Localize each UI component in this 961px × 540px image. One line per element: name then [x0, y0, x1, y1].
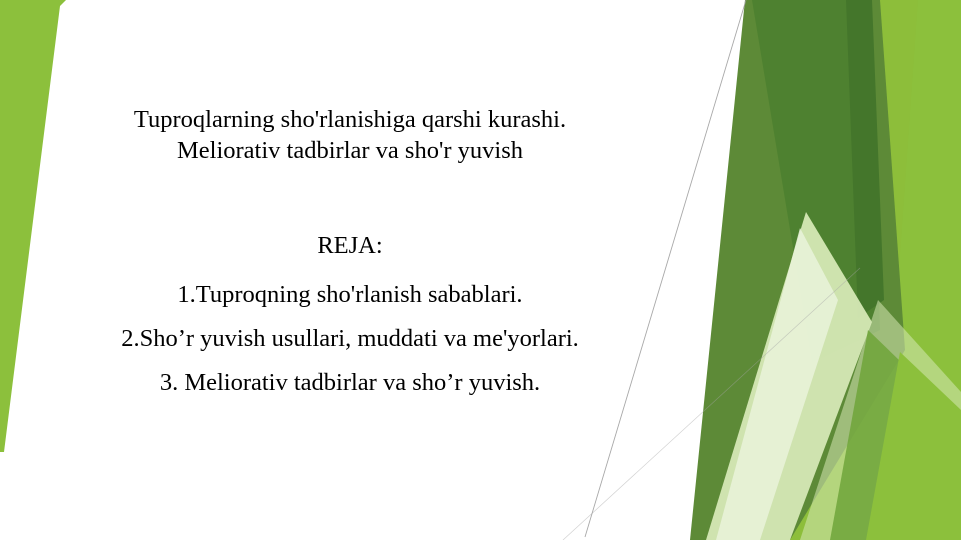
- right-edge-bright-band: [880, 0, 961, 540]
- lower-bright-green-wedge: [866, 352, 961, 540]
- pale-green-overlay-right: [800, 300, 961, 540]
- list-item: 1.Tuproqning sho'rlanish sabablari.: [20, 273, 680, 317]
- list-item: 2.Sho’r yuvish usullari, muddati va me'y…: [20, 317, 680, 361]
- plan-heading: REJA:: [40, 230, 660, 261]
- plan-list: 1.Tuproqning sho'rlanish sabablari. 2.Sh…: [20, 273, 680, 405]
- right-bright-green-base: [700, 0, 961, 540]
- list-item: 3. Meliorativ tadbirlar va sho’r yuvish.: [20, 361, 680, 405]
- lightest-green-overlay: [716, 228, 838, 540]
- title-line-1: Tuproqlarning sho'rlanishiga qarshi kura…: [40, 104, 660, 135]
- title-line-2: Meliorativ tadbirlar va sho'r yuvish: [40, 135, 660, 166]
- slide-title: Tuproqlarning sho'rlanishiga qarshi kura…: [40, 104, 660, 166]
- right-mid-green-diagonal: [690, 0, 905, 540]
- presentation-slide: Tuproqlarning sho'rlanishiga qarshi kura…: [0, 0, 961, 540]
- lower-right-mid-green-accent: [830, 330, 961, 540]
- right-deep-green-sliver: [846, 0, 884, 318]
- right-dark-green-upper-wedge: [752, 0, 880, 362]
- slide-text-content: Tuproqlarning sho'rlanishiga qarshi kura…: [0, 0, 700, 540]
- pale-green-overlay-lower: [706, 212, 872, 540]
